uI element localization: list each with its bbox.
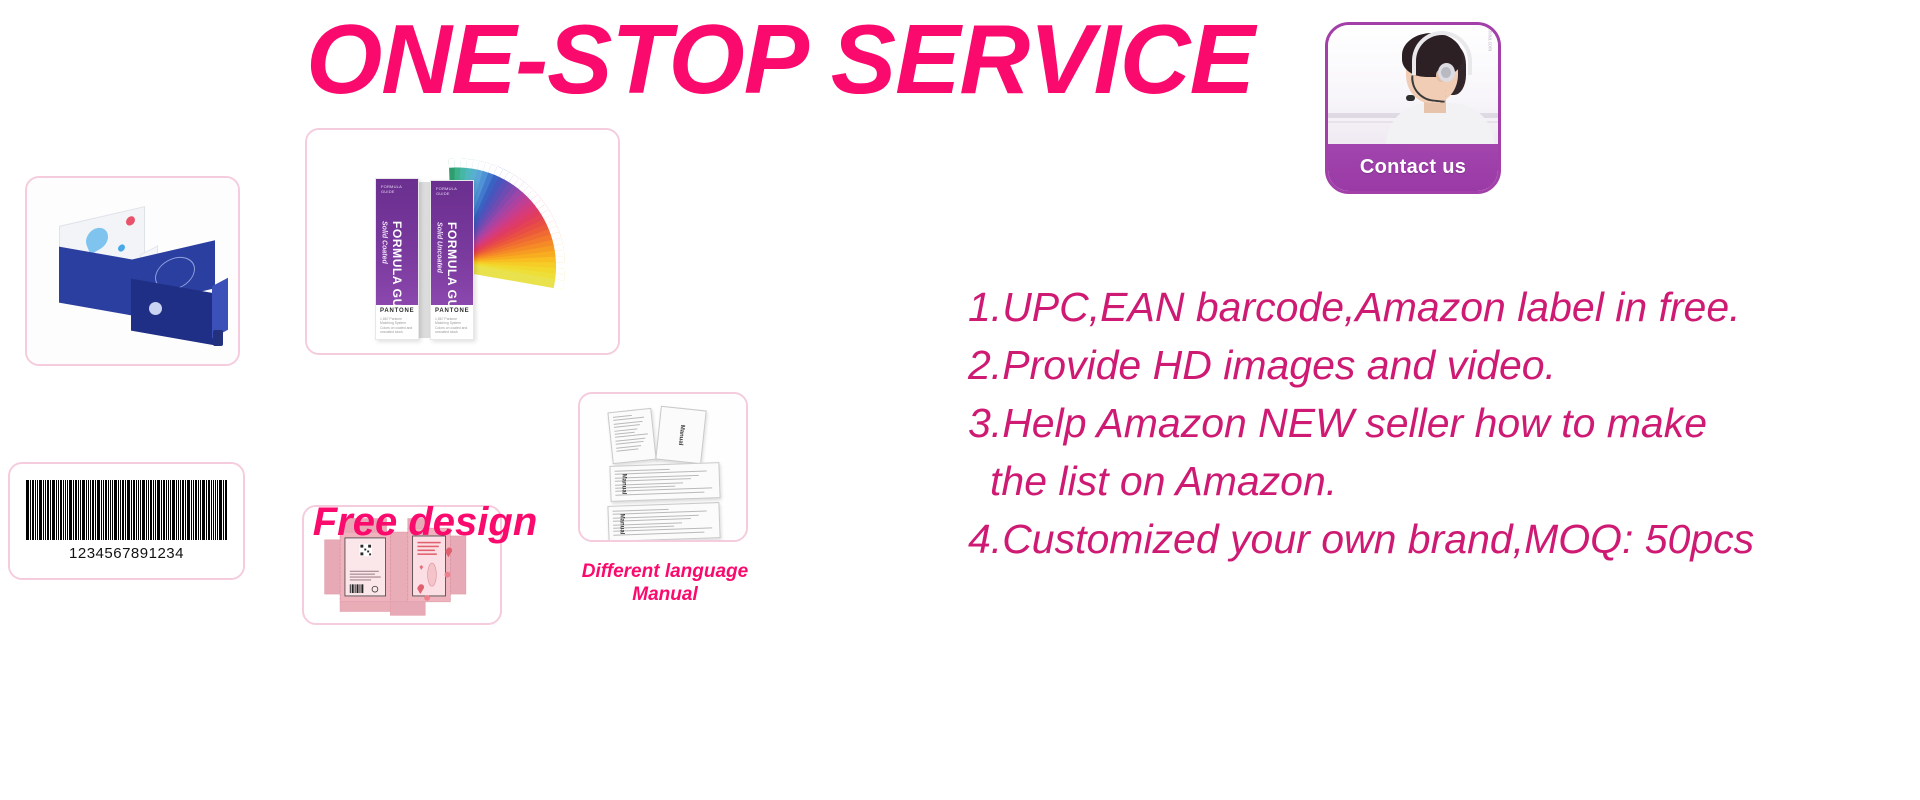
manual-fold-label: Manual bbox=[618, 514, 624, 535]
barcode-bar bbox=[176, 480, 177, 540]
barcode-bar bbox=[161, 480, 162, 540]
barcode-card: 1234567891234 bbox=[8, 462, 245, 580]
barcode-bar bbox=[105, 480, 107, 540]
barcode-bar bbox=[120, 480, 121, 540]
barcode-bar bbox=[211, 480, 212, 540]
guide-title-uncoated: FORMULA GUIDE bbox=[445, 222, 459, 264]
barcode-bar bbox=[219, 480, 222, 540]
barcode-bar bbox=[153, 480, 154, 540]
barcode-bars bbox=[26, 480, 228, 540]
manual-cover: Manual bbox=[655, 406, 706, 465]
box-badge-icon bbox=[149, 302, 162, 315]
barcode-bar bbox=[125, 480, 126, 540]
barcode-bar bbox=[127, 480, 130, 540]
service-item-2: 2.Provide HD images and video. bbox=[968, 336, 1918, 394]
service-list: 1.UPC,EAN barcode,Amazon label in free. … bbox=[968, 278, 1918, 568]
service-item-3: 3.Help Amazon NEW seller how to make bbox=[968, 394, 1918, 452]
box-drawer-pull bbox=[213, 330, 223, 346]
barcode-bar bbox=[148, 480, 149, 540]
barcode-bar bbox=[170, 480, 171, 540]
contact-us-label: Contact us bbox=[1360, 156, 1466, 179]
barcode-bar bbox=[30, 480, 31, 540]
contact-us-badge[interactable]: made-in-china.com Contact us bbox=[1325, 22, 1501, 194]
barcode-bar bbox=[191, 480, 192, 540]
barcode-bar bbox=[50, 480, 51, 540]
barcode-bar bbox=[133, 480, 135, 540]
customer-service-agent-photo: made-in-china.com bbox=[1328, 25, 1498, 147]
barcode-bar bbox=[45, 480, 46, 540]
guide-sub-coated: Solid Coated bbox=[381, 221, 388, 263]
barcode-bar bbox=[43, 480, 44, 540]
manual-text-lines bbox=[615, 467, 716, 496]
guide-header-text: FORMULA GUIDE bbox=[381, 184, 414, 194]
barcode-bar bbox=[163, 480, 165, 540]
photo-watermark: made-in-china.com bbox=[1487, 25, 1493, 51]
barcode-bar bbox=[37, 480, 38, 540]
guide-cap-coated: FORMULA GUIDE FORMULA GUIDE Solid Coated bbox=[376, 179, 418, 305]
contact-us-bar[interactable]: Contact us bbox=[1328, 144, 1498, 191]
barcode-bar bbox=[146, 480, 147, 540]
barcode-bar bbox=[39, 480, 42, 540]
barcode-bar bbox=[131, 480, 132, 540]
packaging-box-image bbox=[27, 178, 238, 364]
barcode-bar bbox=[155, 480, 156, 540]
pantone-chip-tip bbox=[554, 279, 564, 289]
barcode-bar bbox=[60, 480, 62, 540]
barcode-bar bbox=[168, 480, 169, 540]
barcode-number: 1234567891234 bbox=[69, 545, 184, 562]
barcode-bar bbox=[217, 480, 218, 540]
guide-header-text-2: FORMULA GUIDE bbox=[436, 186, 469, 196]
barcode-bar bbox=[88, 480, 89, 540]
service-item-1: 1.UPC,EAN barcode,Amazon label in free. bbox=[968, 278, 1918, 336]
guide-foot-uncoated: PANTONE 1,867 Pantone Matching System Co… bbox=[431, 305, 473, 339]
box-dot-red-icon bbox=[126, 215, 135, 226]
barcode-bar bbox=[69, 480, 72, 540]
pantone-brand-label: PANTONE bbox=[380, 308, 414, 314]
barcode-bar bbox=[90, 480, 91, 540]
barcode-bar bbox=[52, 480, 55, 540]
guide-foot-coated: PANTONE 1,867 Pantone Matching System Co… bbox=[376, 305, 418, 339]
manual-text-lines bbox=[613, 413, 651, 458]
barcode-bar bbox=[78, 480, 79, 540]
service-item-4: 4.Customized your own brand,MOQ: 50pcs bbox=[968, 510, 1918, 568]
pantone-brand-label-2: PANTONE bbox=[435, 308, 469, 314]
barcode-bar bbox=[80, 480, 81, 540]
barcode-bar bbox=[47, 480, 49, 540]
manual-page bbox=[607, 408, 656, 464]
headset-mic-tip-icon bbox=[1406, 95, 1415, 101]
barcode-bar bbox=[195, 480, 197, 540]
barcode-image: 1234567891234 bbox=[10, 464, 243, 578]
barcode-bar bbox=[223, 480, 224, 540]
barcode-bar bbox=[178, 480, 179, 540]
barcode-bar bbox=[86, 480, 87, 540]
barcode-bar bbox=[182, 480, 184, 540]
barcode-bar bbox=[225, 480, 227, 540]
barcode-bar bbox=[118, 480, 119, 540]
barcode-bar bbox=[67, 480, 68, 540]
barcode-bar bbox=[215, 480, 216, 540]
barcode-bar bbox=[95, 480, 96, 540]
barcode-bar bbox=[185, 480, 186, 540]
barcode-bar bbox=[114, 480, 117, 540]
barcode-bar bbox=[213, 480, 214, 540]
guide-title-coated: FORMULA GUIDE bbox=[390, 221, 404, 263]
barcode-bar bbox=[142, 480, 145, 540]
barcode-bar bbox=[32, 480, 34, 540]
barcode-bar bbox=[166, 480, 167, 540]
barcode-bar bbox=[56, 480, 57, 540]
barcode-bar bbox=[206, 480, 207, 540]
barcode-bar bbox=[82, 480, 85, 540]
pantone-color-fan bbox=[457, 176, 620, 355]
pantone-guide-coated: FORMULA GUIDE FORMULA GUIDE Solid Coated… bbox=[375, 178, 419, 340]
barcode-bar bbox=[136, 480, 137, 540]
barcode-bar bbox=[157, 480, 160, 540]
service-item-3-cont: the list on Amazon. bbox=[968, 452, 1918, 510]
pantone-blurb: 1,867 Pantone Matching System Colors on … bbox=[380, 317, 415, 335]
free-design-label: Free design bbox=[300, 500, 550, 545]
barcode-bar bbox=[140, 480, 141, 540]
barcode-bar bbox=[35, 480, 36, 540]
manual-image: ManualManualManual bbox=[580, 394, 746, 540]
barcode-bar bbox=[202, 480, 205, 540]
headset-earcup-inner-icon bbox=[1441, 67, 1451, 78]
pantone-guide-image: FORMULA GUIDE FORMULA GUIDE Solid Coated… bbox=[307, 130, 618, 353]
barcode-bar bbox=[75, 480, 77, 540]
pantone-blurb-2: 1,867 Pantone Matching System Colors on … bbox=[435, 317, 470, 335]
barcode-bar bbox=[26, 480, 29, 540]
barcode-bar bbox=[58, 480, 59, 540]
barcode-bar bbox=[180, 480, 181, 540]
guide-cap-uncoated: FORMULA GUIDE FORMULA GUIDE Solid Uncoat… bbox=[431, 181, 473, 305]
barcode-bar bbox=[198, 480, 199, 540]
manual-fold-label: Manual bbox=[620, 474, 626, 495]
barcode-bar bbox=[103, 480, 104, 540]
barcode-bar bbox=[63, 480, 64, 540]
manual-caption-line-1: Different language bbox=[560, 560, 770, 583]
barcode-bar bbox=[110, 480, 111, 540]
barcode-bar bbox=[92, 480, 94, 540]
barcode-bar bbox=[122, 480, 124, 540]
barcode-bar bbox=[65, 480, 66, 540]
manual-text-lines bbox=[613, 507, 716, 537]
manual-caption: Different language Manual bbox=[560, 560, 770, 606]
barcode-bar bbox=[112, 480, 113, 540]
barcode-bar bbox=[172, 480, 175, 540]
barcode-bar bbox=[150, 480, 152, 540]
pantone-guide-card: FORMULA GUIDE FORMULA GUIDE Solid Coated… bbox=[305, 128, 620, 355]
barcode-bar bbox=[108, 480, 109, 540]
barcode-bar bbox=[187, 480, 190, 540]
barcode-bar bbox=[138, 480, 139, 540]
manual-cover-label: Manual bbox=[677, 424, 685, 445]
packaging-box-card bbox=[25, 176, 240, 366]
manual-caption-line-2: Manual bbox=[560, 583, 770, 606]
manual-folded-2 bbox=[607, 502, 720, 542]
barcode-bar bbox=[200, 480, 201, 540]
barcode-bar bbox=[101, 480, 102, 540]
guide-sub-uncoated: Solid Uncoated bbox=[436, 222, 443, 264]
barcode-bar bbox=[193, 480, 194, 540]
barcode-bar bbox=[208, 480, 210, 540]
manual-card: ManualManualManual bbox=[578, 392, 748, 542]
barcode-bar bbox=[97, 480, 100, 540]
pantone-guide-uncoated: FORMULA GUIDE FORMULA GUIDE Solid Uncoat… bbox=[430, 180, 474, 340]
box-dot-blue-icon bbox=[118, 244, 125, 253]
barcode-bar bbox=[73, 480, 74, 540]
